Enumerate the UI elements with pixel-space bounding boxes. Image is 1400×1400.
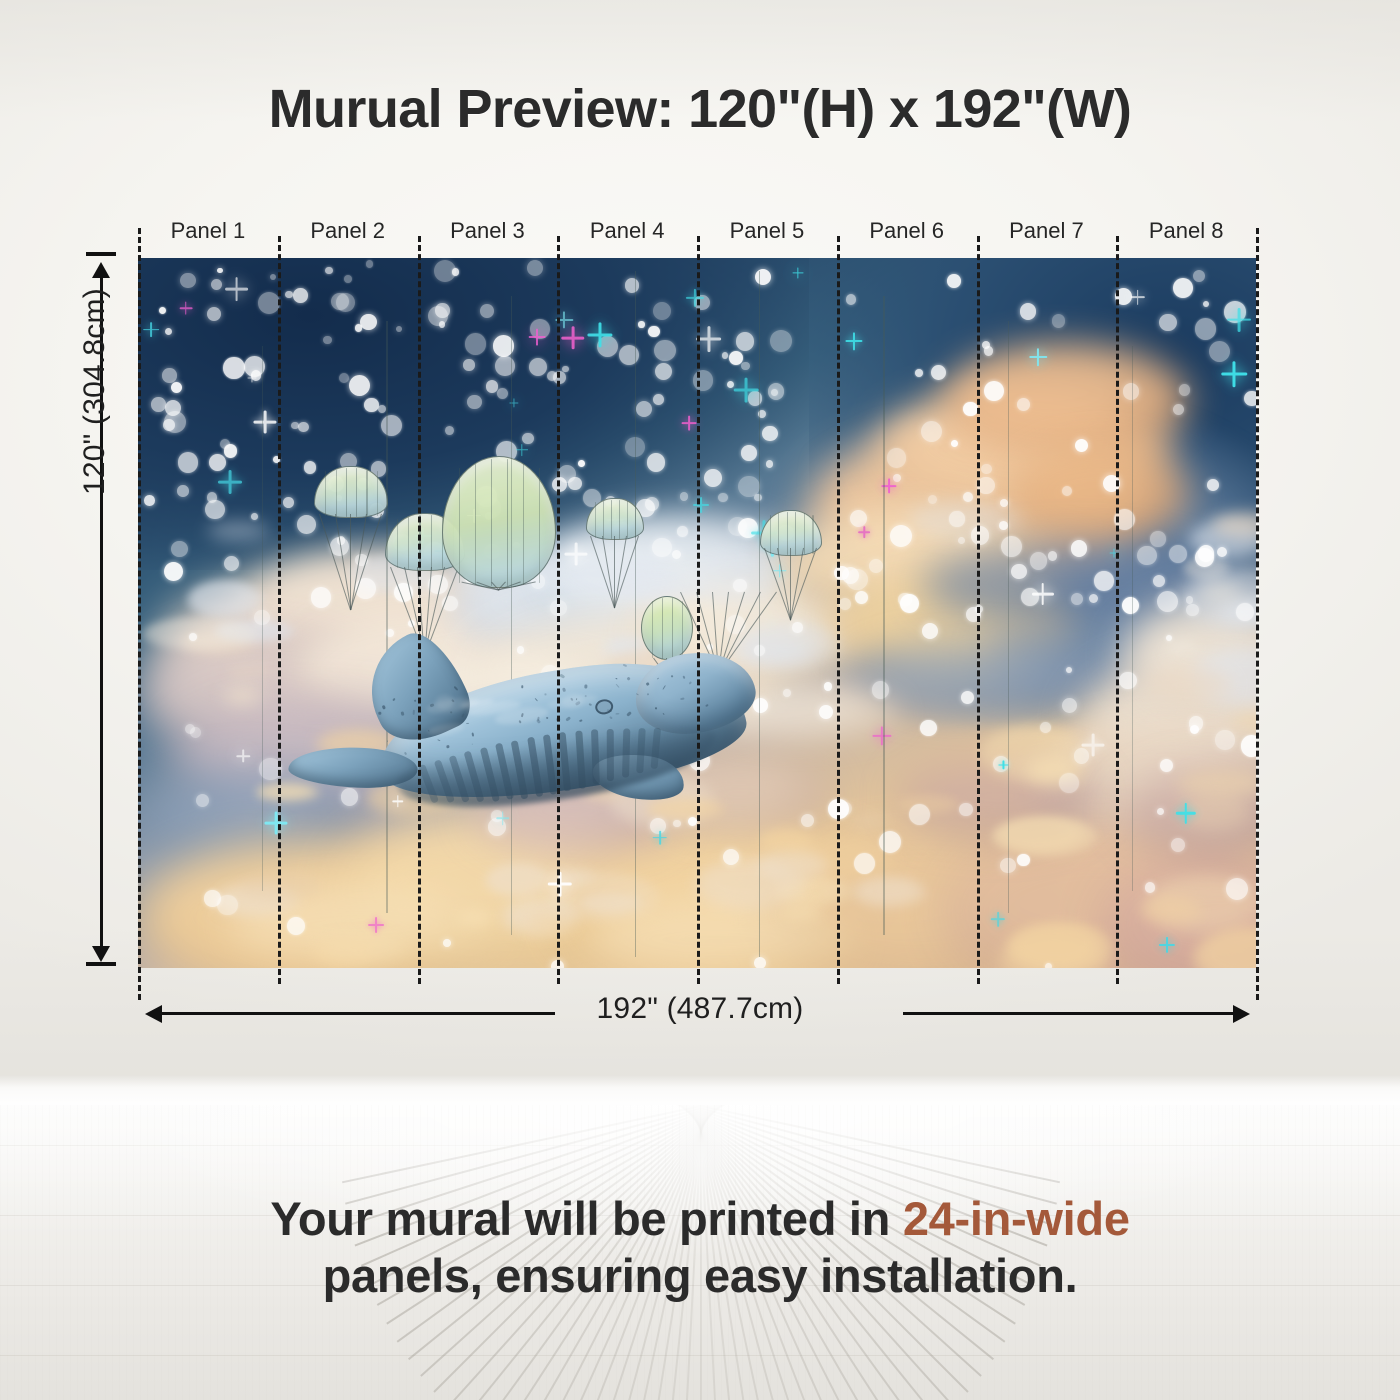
whale-speckle (521, 685, 523, 688)
sparkle-star (237, 749, 250, 762)
star (217, 895, 238, 916)
star (647, 453, 665, 471)
panel-label-4: Panel 4 (557, 214, 697, 248)
page-title: Murual Preview: 120"(H) x 192"(W) (0, 78, 1400, 140)
star (736, 332, 754, 350)
star (673, 820, 681, 828)
balloon-gore-line (539, 468, 540, 583)
star (652, 538, 671, 557)
balloon-gore-line (431, 515, 432, 570)
star (819, 705, 833, 719)
sparkle-star (529, 329, 546, 346)
width-dimension-label: 192" (487.7cm) (0, 992, 1400, 1026)
height-dimension-arrow-down (92, 946, 110, 962)
star (915, 369, 923, 377)
star (688, 817, 697, 826)
height-dimension-label: 120" (304.8cm) (78, 288, 112, 495)
cloud-puff (1140, 896, 1203, 925)
star (325, 267, 332, 274)
parachute-rope-1 (350, 514, 351, 610)
star (251, 513, 258, 520)
star (638, 321, 644, 327)
balloon-gore-line (523, 464, 524, 585)
star (336, 293, 355, 312)
star (872, 681, 889, 698)
balloon-gore-line (603, 501, 604, 538)
sparkle-star (144, 322, 160, 338)
balloon-gore-line (812, 515, 813, 554)
star (180, 273, 195, 288)
height-dimension-cap-top (86, 252, 116, 256)
cloud-puff (1145, 667, 1233, 705)
star (465, 333, 487, 355)
caption-line-2: panels, ensuring easy installation. (0, 1247, 1400, 1304)
star (1193, 270, 1205, 282)
star (311, 587, 332, 608)
airship-gore-line (1132, 346, 1133, 890)
airship-gore-line (262, 346, 263, 890)
star (1075, 439, 1088, 452)
star (171, 541, 188, 558)
cloud-13 (943, 343, 1189, 457)
sparkle-star (872, 726, 891, 745)
star (224, 556, 239, 571)
star (1186, 596, 1193, 603)
sparkle-star (693, 497, 709, 513)
star (209, 454, 226, 471)
star (928, 495, 937, 504)
star (855, 591, 868, 604)
star (648, 326, 659, 337)
star (339, 373, 349, 383)
balloon-gore-line (770, 515, 771, 554)
panel-label-8: Panel 8 (1116, 214, 1256, 248)
balloon-gore-line (459, 468, 460, 583)
star (1171, 838, 1185, 852)
star (323, 336, 331, 344)
panel-divider-3 (557, 236, 560, 984)
balloon-gore-line (595, 502, 596, 537)
panel-divider-1 (278, 236, 281, 984)
star (770, 330, 792, 352)
star (344, 275, 352, 283)
star (522, 433, 533, 444)
cloud-puff (485, 863, 554, 898)
cloud-puff (756, 851, 830, 882)
whale-speckle (387, 740, 388, 742)
star (971, 526, 990, 545)
balloon-gore-line (356, 468, 357, 517)
panel-label-1: Panel 1 (138, 214, 278, 248)
star (1190, 725, 1199, 734)
star (1071, 593, 1083, 605)
cloud-16 (1010, 443, 1189, 542)
star (270, 274, 276, 280)
sparkle-star (653, 830, 668, 845)
whale-speckle (562, 687, 566, 692)
panel-divider-6 (977, 236, 980, 984)
panel-label-7: Panel 7 (977, 214, 1117, 248)
installation-caption: Your mural will be printed in 24-in-wide… (0, 1190, 1400, 1305)
star (1186, 604, 1199, 617)
cloud-puff (187, 580, 263, 620)
star (754, 957, 766, 968)
cloud-puff (256, 783, 320, 802)
star (984, 381, 1004, 401)
star (151, 397, 165, 411)
star (144, 495, 154, 505)
balloon-gore-line (619, 500, 620, 539)
star (762, 426, 777, 441)
balloon-gore-line (611, 500, 612, 539)
star (981, 464, 992, 475)
sparkle-star (247, 373, 256, 382)
sparkle-star (1221, 362, 1246, 387)
panel-divider-8 (1256, 228, 1259, 1000)
star (741, 445, 757, 461)
sparkle-star (254, 410, 277, 433)
panel-divider-0 (138, 228, 141, 1000)
star (741, 362, 749, 370)
star (680, 492, 688, 500)
star (467, 395, 482, 410)
star (207, 307, 221, 321)
panel-divider-2 (418, 236, 421, 984)
sparkle-star (1159, 937, 1175, 953)
balloon-gore-line (346, 468, 347, 517)
balloon-gore-line (627, 501, 628, 538)
star (771, 389, 778, 396)
star (1045, 963, 1052, 968)
star (1159, 314, 1177, 332)
star (1207, 479, 1219, 491)
cloud-puff (1007, 922, 1112, 968)
sparkle-star (516, 444, 528, 456)
panel-label-3: Panel 3 (418, 214, 558, 248)
sparkle-star (1082, 734, 1105, 757)
star (381, 415, 402, 436)
panel-label-6: Panel 6 (837, 214, 977, 248)
star (693, 370, 713, 390)
star (364, 398, 378, 412)
star (480, 304, 494, 318)
panel-label-2: Panel 2 (278, 214, 418, 248)
star (164, 562, 183, 581)
star (824, 682, 832, 690)
star (297, 515, 316, 534)
star (1157, 808, 1164, 815)
star (854, 853, 875, 874)
star (846, 294, 856, 304)
star (1236, 603, 1254, 621)
sparkle-star (991, 912, 1005, 926)
star (1173, 404, 1184, 415)
star (164, 411, 186, 433)
star (366, 260, 374, 268)
star (1017, 854, 1030, 867)
panel-divider-4 (697, 236, 700, 984)
star (887, 448, 906, 467)
star (1011, 564, 1026, 579)
star (558, 465, 576, 483)
sparkle-star (564, 543, 587, 566)
star (283, 497, 294, 508)
star (159, 307, 166, 314)
star (677, 526, 688, 537)
star (718, 493, 727, 502)
star (223, 357, 244, 378)
balloon-gore-line (377, 471, 378, 515)
star (792, 622, 802, 632)
hot-air-balloon-canopy (442, 456, 556, 588)
star (360, 314, 377, 331)
balloon-gore-line (787, 512, 788, 555)
cloud-puff (314, 932, 409, 965)
sparkle-star (1175, 803, 1195, 823)
star (527, 260, 543, 276)
star (958, 537, 965, 544)
sparkle-star (1130, 290, 1144, 304)
star (850, 510, 867, 527)
star (177, 485, 189, 497)
sparkle-star (682, 416, 697, 431)
star (1166, 635, 1172, 641)
balloon-gore-line (408, 517, 409, 569)
star (1040, 722, 1051, 733)
star (947, 274, 960, 287)
sparkle-star (686, 289, 704, 307)
caption-accent: 24-in-wide (903, 1192, 1130, 1245)
panel-divider-7 (1116, 236, 1119, 984)
star (733, 579, 747, 593)
whale-speckle (466, 723, 469, 724)
star (1241, 735, 1256, 757)
airship-gore-line (511, 296, 512, 935)
star (839, 802, 852, 815)
star (890, 525, 912, 547)
balloon-gore-line (366, 470, 367, 517)
star (1226, 878, 1248, 900)
star (801, 814, 814, 827)
sparkle-star (846, 333, 863, 350)
wall-floor-transition (0, 1075, 1400, 1107)
star (949, 511, 964, 526)
balloon-gore-line (491, 459, 492, 586)
star (1020, 303, 1037, 320)
sparkle-star (179, 302, 192, 315)
star (304, 461, 316, 473)
star (654, 340, 675, 361)
star (1195, 318, 1216, 339)
star (1209, 341, 1230, 362)
star (396, 326, 402, 332)
star (1160, 759, 1173, 772)
star (349, 375, 370, 396)
star (999, 521, 1008, 530)
star (783, 689, 791, 697)
airship-gore-line (1008, 321, 1009, 913)
sparkle-star (368, 917, 384, 933)
sparkle-star (561, 326, 584, 349)
star (1094, 571, 1114, 591)
height-dimension-cap-bottom (86, 962, 116, 966)
star (1001, 536, 1022, 557)
star (1066, 667, 1072, 673)
sparkle-star (1227, 308, 1251, 332)
star (909, 804, 930, 825)
parachute-canopy-1 (314, 466, 388, 518)
sparkle-star (1030, 348, 1047, 365)
cloud-puff (224, 687, 262, 705)
panel-divider-5 (837, 236, 840, 984)
star (1179, 384, 1190, 395)
star (1062, 698, 1077, 713)
star (766, 460, 773, 467)
sparkle-star (792, 267, 803, 278)
balloon-gore-line (397, 519, 398, 569)
star (951, 440, 958, 447)
star (722, 352, 728, 358)
balloon-gore-line (795, 512, 796, 555)
cloud-puff (1198, 582, 1243, 603)
whale-speckle (378, 712, 381, 715)
star (977, 477, 995, 495)
star (1244, 391, 1256, 406)
star (653, 394, 664, 405)
mural-preview-page: Murual Preview: 120"(H) x 192"(W) Panel … (0, 0, 1400, 1400)
star (293, 288, 307, 302)
star (625, 278, 640, 293)
caption-line-1-text: Your mural will be printed in (270, 1192, 903, 1245)
sparkle-star (1032, 583, 1054, 605)
star (1048, 551, 1058, 561)
sparkle-star (587, 322, 612, 347)
cloud-puff (142, 617, 258, 651)
star (846, 569, 868, 591)
star (162, 368, 176, 382)
star (704, 469, 722, 487)
panel-label-5: Panel 5 (697, 214, 837, 248)
star (1150, 531, 1166, 547)
star (443, 939, 451, 947)
star (205, 500, 224, 519)
balloon-gore-line (507, 459, 508, 586)
balloon-gore-line (475, 464, 476, 585)
balloon-gore-line (325, 471, 326, 515)
star (1217, 547, 1227, 557)
star (463, 359, 474, 370)
balloon-gore-line (336, 470, 337, 517)
caption-line-1: Your mural will be printed in 24-in-wide (0, 1190, 1400, 1247)
star (1030, 552, 1047, 569)
star (1052, 314, 1066, 328)
cloud-puff (779, 904, 824, 921)
star (1145, 882, 1155, 892)
star (1119, 672, 1136, 689)
star (738, 476, 760, 498)
sparkle-star (218, 470, 242, 494)
star (1062, 486, 1072, 496)
airship-gore-line (883, 296, 884, 935)
star (1173, 278, 1193, 298)
star (217, 268, 223, 274)
star (1215, 730, 1234, 749)
star (1203, 301, 1209, 307)
cloud-puff (527, 916, 572, 931)
sparkle-star (858, 526, 870, 538)
whale-speckle (471, 732, 474, 736)
sparkle-star (265, 812, 288, 835)
sparkle-star (734, 378, 759, 403)
star (298, 422, 309, 433)
sparkle-star (225, 277, 249, 301)
